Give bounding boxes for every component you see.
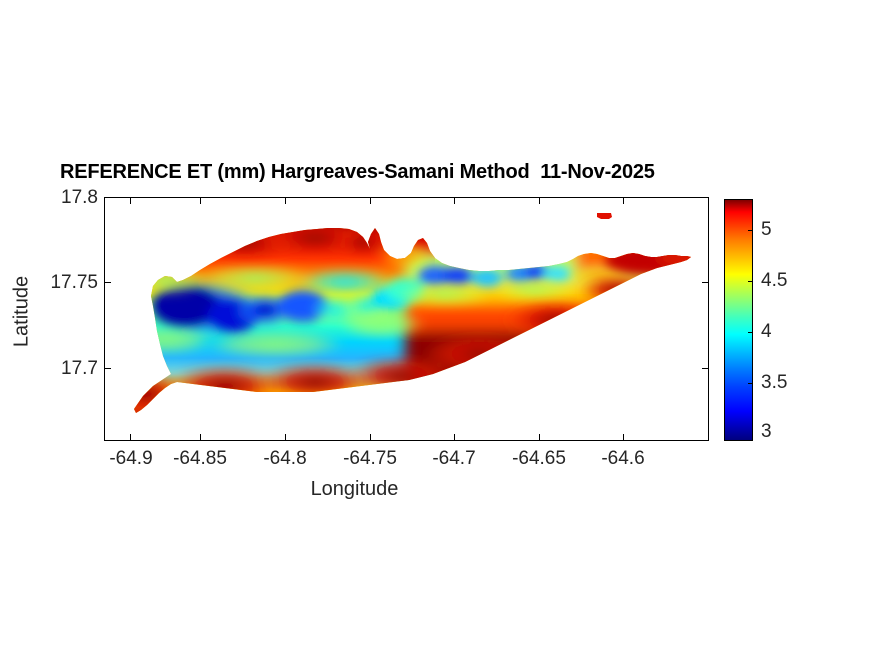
colorbar-gradient	[725, 200, 752, 440]
xtick-label-(-64.75): -64.75	[325, 448, 415, 470]
xtick-label-(-64.65): -64.65	[494, 448, 584, 470]
xtick-mark-5	[454, 434, 455, 441]
xtick-mark-1	[130, 434, 131, 441]
colorbar-tick-4	[748, 332, 753, 333]
colorbar-label-3.5: 3.5	[761, 372, 787, 394]
xtick-mark-top-2	[200, 197, 201, 204]
ytick-mark-17.7	[104, 368, 111, 369]
xtick-mark-top-7	[623, 197, 624, 204]
ytick-label-17.7: 17.7	[28, 358, 98, 380]
xtick-mark-top-4	[370, 197, 371, 204]
ytick-mark-right-17.75	[702, 282, 709, 283]
map-raster-area	[105, 198, 708, 440]
x-axis-label: Longitude	[0, 478, 709, 501]
xtick-mark-6	[539, 434, 540, 441]
ytick-label-17.75: 17.75	[28, 272, 98, 294]
figure-canvas: REFERENCE ET (mm) Hargreaves-Samani Meth…	[0, 0, 875, 656]
colorbar-tick-4.5	[748, 281, 753, 282]
xtick-label-(-64.6): -64.6	[578, 448, 668, 470]
xtick-mark-3	[285, 434, 286, 441]
xtick-label-(-64.85): -64.85	[155, 448, 245, 470]
xtick-mark-7	[623, 434, 624, 441]
colorbar-label-5: 5	[761, 219, 772, 241]
colorbar-label-3: 3	[761, 421, 772, 443]
ytick-mark-right-17.7	[702, 368, 709, 369]
xtick-mark-top-6	[539, 197, 540, 204]
buck-island-raster	[593, 208, 619, 226]
ytick-mark-17.75	[104, 282, 111, 283]
xtick-mark-top-1	[130, 197, 131, 204]
xtick-mark-2	[200, 434, 201, 441]
xtick-label-(-64.7): -64.7	[409, 448, 499, 470]
main-island-raster	[105, 198, 708, 440]
colorbar-label-4.5: 4.5	[761, 270, 787, 292]
xtick-mark-4	[370, 434, 371, 441]
y-axis-label: Latitude	[11, 252, 34, 372]
xtick-mark-top-3	[285, 197, 286, 204]
et-raster-map	[105, 198, 708, 440]
xtick-mark-top-5	[454, 197, 455, 204]
chart-title: REFERENCE ET (mm) Hargreaves-Samani Meth…	[60, 161, 655, 184]
xtick-label-(-64.8): -64.8	[240, 448, 330, 470]
map-axes[interactable]	[104, 197, 709, 441]
colorbar-tick-3.5	[748, 383, 753, 384]
colorbar-label-4: 4	[761, 321, 772, 343]
ytick-label-17.8: 17.8	[28, 187, 98, 209]
colorbar[interactable]	[724, 199, 753, 441]
colorbar-tick-5	[748, 230, 753, 231]
